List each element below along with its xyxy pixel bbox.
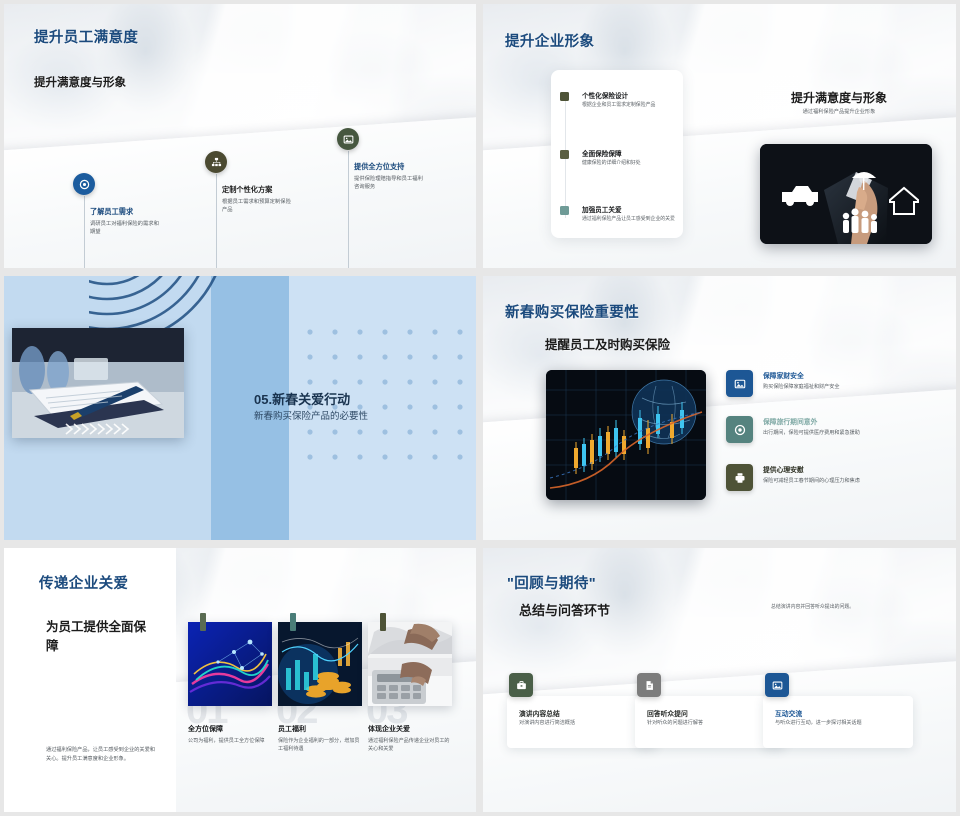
polaroid-desc-1: 公司为福利，提供员工全方位保障 <box>188 737 272 745</box>
bullet-title-3: 加强员工关爱 <box>582 204 678 214</box>
image-icon <box>337 128 359 150</box>
bullet-title-1: 个性化保险设计 <box>582 90 678 100</box>
timeline-desc-2: 根据员工需求和预算定制保险产品 <box>222 198 296 214</box>
slide-3-photo <box>12 328 184 438</box>
timeline-title-3: 提供全方位支持 <box>354 162 428 172</box>
polaroid-card-2[interactable] <box>278 622 362 706</box>
slide-5-footnote: 通过福利保险产品，让员工感受到企业的关爱和关心。提升员工满意度和企业形象。 <box>46 746 156 764</box>
polaroid-image-1 <box>188 622 272 706</box>
polaroid-image-2 <box>278 622 362 706</box>
bullet-desc-1: 根据企业和员工需求定制保险产品 <box>582 102 678 110</box>
slide-4-photo <box>546 370 706 500</box>
bullet-square-2 <box>560 150 569 159</box>
clip-icon-2 <box>290 613 296 631</box>
briefcase-icon[interactable] <box>509 673 533 697</box>
summary-card-1-desc: 对演讲内容进行简洁概括 <box>519 720 647 728</box>
polaroid-desc-2: 保险作为企业福利的一部分，增加员工福利待遇 <box>278 737 362 754</box>
slide-4-item-2-title: 保障旅行期间意外 <box>763 416 906 426</box>
sitemap-icon <box>205 151 227 173</box>
polaroid-caption-2: 员工福利 保险作为企业福利的一部分，增加员工福利待遇 <box>278 724 362 754</box>
slide-3-subtitle: 新春购买保险产品的必要性 <box>254 408 368 422</box>
slide-4-kicker: 新春购买保险重要性 <box>505 301 639 322</box>
timeline-text-3: 提供全方位支持 提供保险理赔指导和员工福利咨询服务 <box>354 162 428 191</box>
slide-4-item-2-desc: 出行期间，保险可提供医疗费用和紧急援助 <box>763 429 896 437</box>
slide-4-item-1[interactable]: 保障家财安全 购买保险保障家庭福祉和财产安全 <box>726 370 906 391</box>
slide-4-item-3-desc: 保险可减轻员工春节期间的心理压力和焦虑 <box>763 477 896 485</box>
photo-hand-umbrella-illustration <box>760 144 932 244</box>
clip-icon-1 <box>200 613 206 631</box>
slide-1[interactable]: 提升员工满意度 提升满意度与形象 了解员工需求 调研员工对福利保险的需求和期望 … <box>4 4 476 268</box>
timeline-node-2[interactable] <box>205 151 227 173</box>
slide-1-headline: 提升满意度与形象 <box>34 74 126 90</box>
timeline-title-2: 定制个性化方案 <box>222 185 296 195</box>
slide-6-kicker: "回顾与期待" <box>507 572 596 593</box>
bullet-title-2: 全面保险保障 <box>582 148 678 158</box>
slide-2-kicker: 提升企业形象 <box>505 30 594 51</box>
slide-2-headline: 提升满意度与形象 <box>739 89 939 106</box>
summary-card-2-desc: 针对听众的问题进行解答 <box>647 720 775 728</box>
timeline-desc-3: 提供保险理赔指导和员工福利咨询服务 <box>354 175 428 191</box>
slide-4-item-2[interactable]: 保障旅行期间意外 出行期间，保险可提供医疗费用和紧急援助 <box>726 416 906 437</box>
summary-card-1-title: 演讲内容总结 <box>519 708 560 718</box>
bullet-desc-2: 健康保险的详细介绍和好处 <box>582 160 678 168</box>
polaroid-title-2: 员工福利 <box>278 724 362 734</box>
bullet-square-1 <box>560 92 569 101</box>
slide-6-headline: 总结与问答环节 <box>519 600 610 619</box>
image-icon <box>726 370 753 397</box>
slide-3[interactable]: 05.新春关爱行动 新春购买保险产品的必要性 <box>4 276 476 540</box>
target-icon <box>726 416 753 443</box>
timeline-node-1[interactable] <box>73 173 95 195</box>
target-icon <box>73 173 95 195</box>
slide-6[interactable]: "回顾与期待" 总结与问答环节 总结演讲内容并回答听众提出的问题。 演讲内容总结… <box>483 548 956 812</box>
slide-4-item-3[interactable]: 提供心理安慰 保险可减轻员工春节期间的心理压力和焦虑 <box>726 464 906 485</box>
timeline-text-2: 定制个性化方案 根据员工需求和预算定制保险产品 <box>222 185 296 214</box>
timeline-stem-1 <box>84 196 85 268</box>
timeline-text-1: 了解员工需求 调研员工对福利保险的需求和期望 <box>90 207 164 236</box>
photo-pen-notebook <box>12 328 184 438</box>
polaroid-card-3[interactable] <box>368 622 452 706</box>
polaroid-desc-3: 通过福利保险产品传递企业对员工的关心和关爱 <box>368 737 452 754</box>
summary-card-3-desc: 与听众进行互动，进一步探讨相关话题 <box>775 720 903 728</box>
slide-5[interactable]: 传递企业关爱 为员工提供全面保障 通过福利保险产品，让员工感受到企业的关爱和关心… <box>4 548 476 812</box>
document-icon[interactable] <box>637 673 661 697</box>
timeline-desc-1: 调研员工对福利保险的需求和期望 <box>90 220 164 236</box>
slide-2-subhead: 通过福利保险产品提升企业形象 <box>739 108 939 115</box>
clip-icon-3 <box>380 613 386 631</box>
bullet-desc-3: 通过福利保险产品让员工感受到企业的关爱 <box>582 216 678 224</box>
polaroid-caption-1: 全方位保障 公司为福利，提供员工全方位保障 <box>188 724 272 745</box>
summary-card-2-title: 回答听众提问 <box>647 708 688 718</box>
slide-2-photo <box>760 144 932 244</box>
timeline-title-1: 了解员工需求 <box>90 207 164 217</box>
photo-candlestick-globe <box>546 370 706 500</box>
summary-card-3[interactable]: 互动交流 与听众进行互动，进一步探讨相关话题 <box>763 696 913 748</box>
polaroid-image-3 <box>368 622 452 706</box>
slide-4-item-1-title: 保障家财安全 <box>763 370 906 380</box>
polaroid-card-1[interactable] <box>188 622 272 706</box>
slide-4-item-3-title: 提供心理安慰 <box>763 464 906 474</box>
slide-grid: 提升员工满意度 提升满意度与形象 了解员工需求 调研员工对福利保险的需求和期望 … <box>0 0 960 816</box>
timeline-node-3[interactable] <box>337 128 359 150</box>
polaroid-caption-3: 体现企业关爱 通过福利保险产品传递企业对员工的关心和关爱 <box>368 724 452 754</box>
slide-2-bullet-card: 个性化保险设计 根据企业和员工需求定制保险产品 全面保险保障 健康保险的详细介绍… <box>551 70 683 238</box>
bullet-item-2[interactable]: 全面保险保障 健康保险的详细介绍和好处 <box>560 148 678 168</box>
bullet-item-1[interactable]: 个性化保险设计 根据企业和员工需求定制保险产品 <box>560 90 678 110</box>
slide-4-headline: 提醒员工及时购买保险 <box>545 334 670 353</box>
slide-6-note: 总结演讲内容并回答听众提出的问题。 <box>771 603 941 610</box>
polaroid-title-1: 全方位保障 <box>188 724 272 734</box>
slide-5-headline: 为员工提供全面保障 <box>46 618 151 656</box>
slide-1-kicker: 提升员工满意度 <box>34 26 138 47</box>
timeline-stem-3 <box>348 151 349 268</box>
slide-4-item-1-desc: 购买保险保障家庭福祉和财产安全 <box>763 383 896 391</box>
polaroid-title-3: 体现企业关爱 <box>368 724 452 734</box>
timeline-stem-2 <box>216 174 217 268</box>
bullet-square-3 <box>560 206 569 215</box>
printer-icon <box>726 464 753 491</box>
bullet-item-3[interactable]: 加强员工关爱 通过福利保险产品让员工感受到企业的关爱 <box>560 204 678 224</box>
image-icon[interactable] <box>765 673 789 697</box>
slide-4[interactable]: 新春购买保险重要性 提醒员工及时购买保险 <box>483 276 956 540</box>
slide-3-title: 05.新春关爱行动 <box>254 389 350 408</box>
slide-5-kicker: 传递企业关爱 <box>39 572 128 593</box>
slide-2[interactable]: 提升企业形象 个性化保险设计 根据企业和员工需求定制保险产品 全面保险保障 健康… <box>483 4 956 268</box>
summary-card-3-title: 互动交流 <box>775 708 802 718</box>
